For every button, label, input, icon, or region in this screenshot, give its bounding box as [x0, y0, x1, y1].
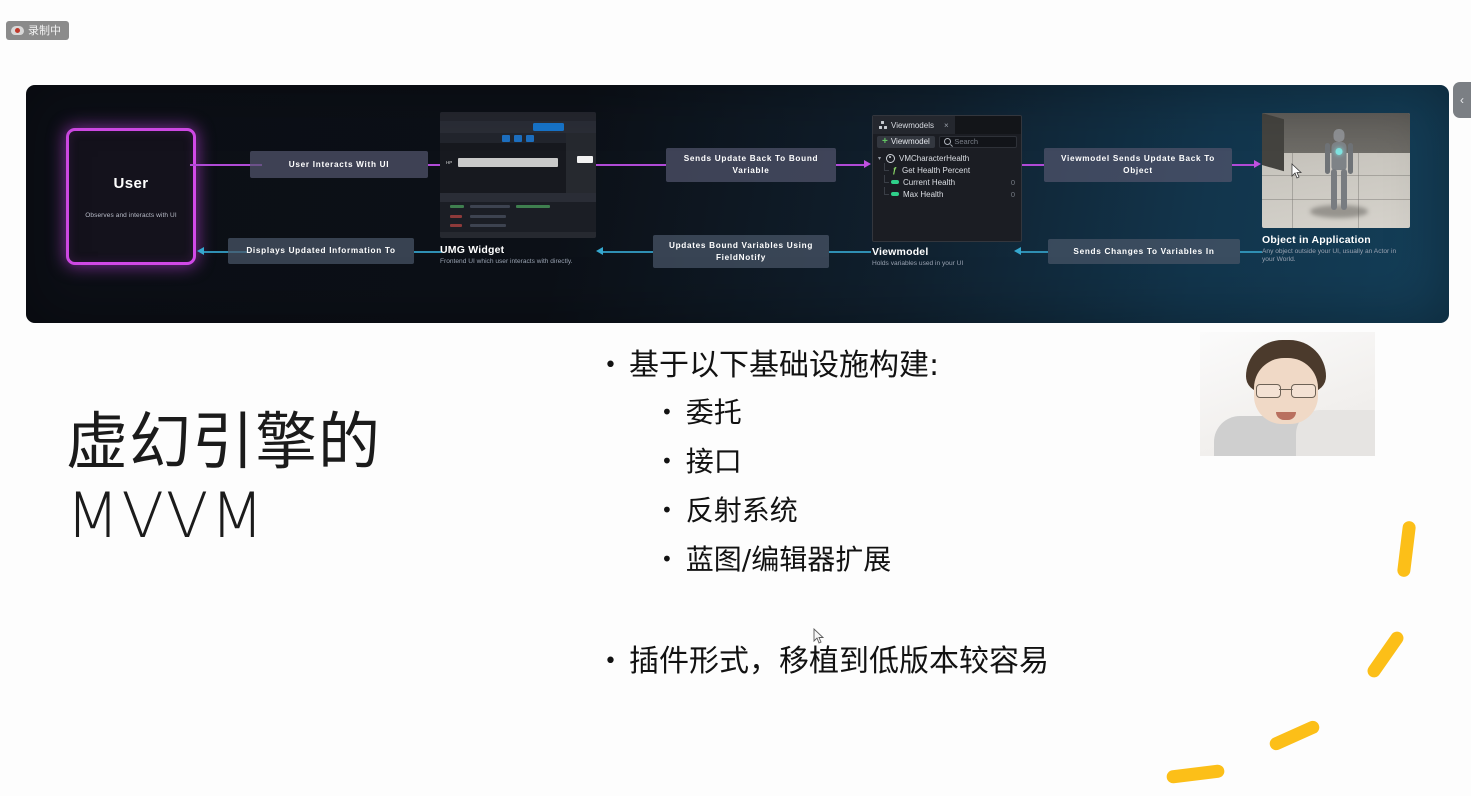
umg-details-panel: [566, 133, 596, 193]
decor-dash-2: [1365, 629, 1406, 680]
diagram-node-user: User Observes and interacts with UI: [66, 128, 196, 265]
add-viewmodel-label: Viewmodel: [891, 137, 930, 146]
tab-viewmodels[interactable]: Viewmodels ×: [873, 116, 955, 134]
decor-dash-3: [1268, 719, 1322, 752]
recording-cloud-icon: [11, 26, 24, 35]
sub-bullet-text: 接口: [686, 437, 742, 486]
bullet-main-text: 基于以下基础设施构建:: [629, 344, 939, 388]
flow-arrow-umg-to-vm: [864, 160, 871, 168]
tree-row-current-health[interactable]: Current Health 0: [873, 176, 1021, 188]
tree-row-value: 0: [1011, 178, 1015, 187]
flow-line-vm-to-object-b: [1232, 164, 1254, 166]
recording-indicator: 录制中: [6, 21, 69, 40]
object-node-subtitle: Any object outside your UI, usually an A…: [1262, 248, 1410, 265]
viewmodels-toolbar: + Viewmodel Search: [873, 134, 1021, 149]
bullet-main: • 基于以下基础设施构建:: [604, 344, 1224, 388]
recording-label: 录制中: [28, 21, 61, 40]
panel-collapse-button[interactable]: ‹: [1453, 82, 1471, 118]
umg-hp-progressbar: [458, 158, 558, 167]
sub-bullet-item: • 接口: [604, 437, 1224, 486]
viewmodels-tab-icon: [879, 121, 887, 129]
umg-compile-button: [533, 123, 564, 131]
chevron-down-icon[interactable]: ▾: [878, 155, 884, 162]
viewmodel-node-title: Viewmodel: [872, 246, 1020, 258]
tree-row-vmcharacterhealth[interactable]: ▾ VMCharacterHealth: [873, 152, 1021, 164]
close-icon[interactable]: ×: [944, 121, 949, 130]
flow-arrow-umg-to-user: [197, 247, 204, 255]
flow-label-updates-bound-variables-using-fieldnotify: Updates Bound Variables Using FieldNotif…: [653, 235, 829, 268]
umg-tool-1: [502, 135, 510, 142]
decor-dash-4: [1166, 764, 1225, 784]
mouse-cursor: [813, 628, 824, 644]
umg-node-title: UMG Widget: [440, 244, 596, 256]
umg-editor-screenshot: HP: [440, 112, 596, 238]
flow-line-umg-to-vm-a: [596, 164, 666, 166]
tree-row-label: Get Health Percent: [902, 166, 970, 175]
tree-row-get-health-percent[interactable]: ƒ Get Health Percent: [873, 164, 1021, 176]
flow-label-sends-update-back-to-bound-variable: Sends Update Back To Bound Variable: [666, 148, 836, 182]
sub-bullet-item: • 反射系统: [604, 486, 1224, 535]
add-viewmodel-button[interactable]: + Viewmodel: [877, 136, 935, 148]
umg-color-swatch: [577, 156, 593, 163]
umg-tool-3: [526, 135, 534, 142]
flow-line-object-to-vm-a: [1020, 251, 1048, 253]
user-node-title: User: [114, 175, 149, 192]
function-icon: ƒ: [891, 166, 898, 175]
bullet-marker: •: [661, 388, 673, 437]
page-title-line1: 虚幻引擎的: [66, 405, 381, 478]
mvvm-diagram-panel: User Observes and interacts with UI User…: [26, 85, 1449, 323]
bullet-bottom: • 插件形式，移植到低版本较容易: [604, 640, 1304, 684]
page-title: 虚幻引擎的 MVVM: [66, 405, 496, 553]
flow-arrow-object-to-vm: [1014, 247, 1021, 255]
umg-node-subtitle: Frontend UI which user interacts with di…: [440, 258, 596, 266]
search-placeholder: Search: [954, 137, 978, 146]
tree-row-max-health[interactable]: Max Health 0: [873, 188, 1021, 200]
variable-icon: [891, 192, 899, 196]
tree-row-label: VMCharacterHealth: [899, 154, 969, 163]
tree-row-value: 0: [1011, 190, 1015, 199]
decor-dash-1: [1397, 520, 1417, 577]
sub-bullet-list: • 委托 • 接口 • 反射系统 • 蓝图/编辑器扩展: [604, 388, 1224, 584]
flow-label-viewmodel-sends-update-back-to-object: Viewmodel Sends Update Back To Object: [1044, 148, 1232, 182]
sub-bullet-item: • 委托: [604, 388, 1224, 437]
umg-hp-label: HP: [446, 158, 452, 167]
viewmodels-tree: ▾ VMCharacterHealth ƒ Get Health Percent…: [873, 149, 1021, 200]
variable-icon: [891, 180, 899, 184]
viewmodel-node-subtitle: Holds variables used in your UI: [872, 260, 1020, 268]
sub-bullet-item: • 蓝图/编辑器扩展: [604, 535, 1224, 584]
flow-line-vm-to-object-a: [1020, 164, 1044, 166]
flow-arrow-vm-to-umg: [596, 247, 603, 255]
flow-label-displays-updated-information-to: Displays Updated Information To: [228, 238, 414, 264]
glasses-icon: [1256, 384, 1316, 396]
flow-line-umg-to-user-b: [414, 251, 442, 253]
flow-line-vm-to-umg-a: [603, 251, 653, 253]
class-icon: [886, 154, 895, 163]
bullet-marker: •: [661, 437, 673, 486]
flow-line-vm-to-umg-b: [829, 251, 871, 253]
presenter-webcam: [1200, 332, 1375, 456]
bullet-bottom-text: 插件形式，移植到低版本较容易: [629, 640, 1049, 684]
viewmodels-tabstrip: Viewmodels ×: [873, 116, 1021, 134]
mannequin-core-glow: [1335, 148, 1342, 155]
user-node-subtitle: Observes and interacts with UI: [85, 212, 177, 219]
search-icon: [944, 138, 952, 146]
viewport-mouse-cursor: [1291, 163, 1302, 179]
flow-label-sends-changes-to-variables-in: Sends Changes To Variables In: [1048, 239, 1240, 264]
page-title-line2: MVVM: [66, 479, 496, 553]
bullet-marker: •: [604, 344, 617, 388]
tree-row-label: Max Health: [903, 190, 943, 199]
bullet-list: • 基于以下基础设施构建: • 委托 • 接口 • 反射系统 • 蓝图/编辑器扩…: [604, 344, 1224, 584]
diagram-node-object-in-application: Object in Application Any object outside…: [1262, 113, 1410, 265]
object-node-title: Object in Application: [1262, 234, 1410, 246]
flow-arrow-vm-to-object: [1254, 160, 1261, 168]
diagram-node-umg-widget: HP UMG Widget Frontend UI which user int…: [440, 112, 596, 266]
tab-viewmodels-label: Viewmodels: [891, 121, 934, 130]
chevron-left-icon: ‹: [1460, 94, 1464, 106]
flow-label-user-interacts-with-ui: User Interacts With UI: [250, 151, 428, 178]
tree-row-label: Current Health: [903, 178, 955, 187]
flow-line-umg-to-vm-b: [836, 164, 864, 166]
mannequin-figure: [1324, 129, 1354, 213]
bullet-marker: •: [604, 640, 617, 684]
sub-bullet-text: 反射系统: [686, 486, 798, 535]
flow-line-object-to-vm-b: [1240, 251, 1262, 253]
viewmodels-search-input[interactable]: Search: [939, 136, 1017, 148]
sub-bullet-text: 蓝图/编辑器扩展: [686, 535, 891, 584]
plus-icon: +: [882, 137, 888, 147]
viewmodels-editor-panel: Viewmodels × + Viewmodel Search ▾ VMChar…: [872, 115, 1022, 242]
bullet-marker: •: [661, 486, 673, 535]
umg-tool-2: [514, 135, 522, 142]
object-viewport-screenshot: [1262, 113, 1410, 228]
bullet-marker: •: [661, 535, 673, 584]
sub-bullet-text: 委托: [686, 388, 742, 437]
